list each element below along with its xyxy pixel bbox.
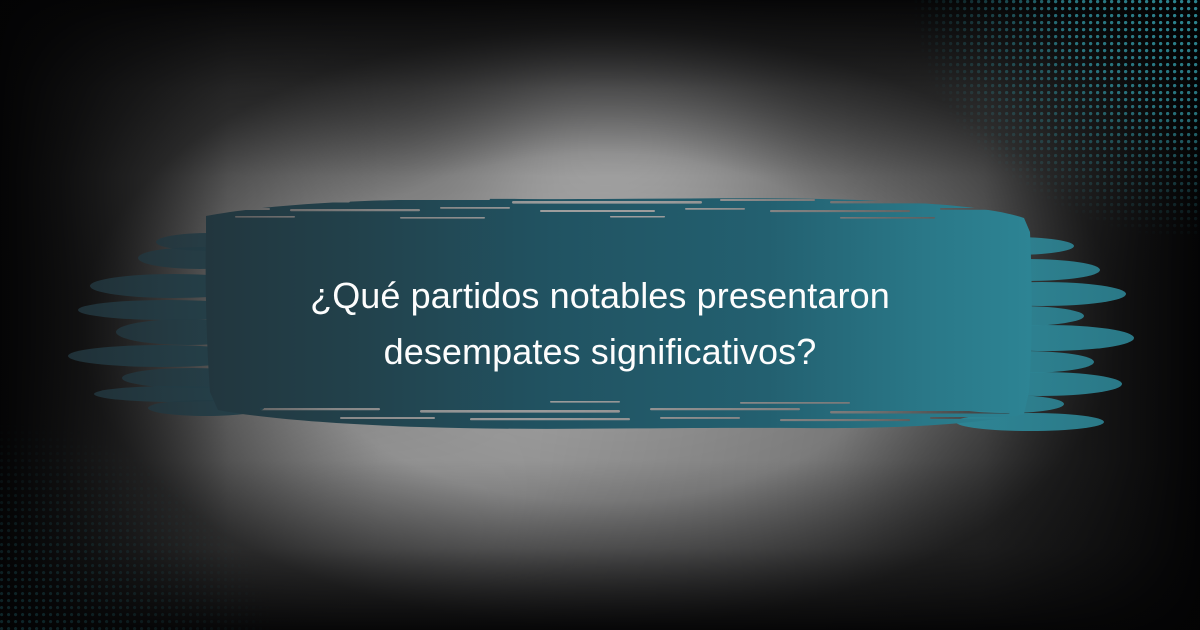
halftone-dots-bottom-left <box>0 410 290 630</box>
page-title: ¿Qué partidos notables presentaron desem… <box>200 268 1000 380</box>
social-card: ¿Qué partidos notables presentaron desem… <box>0 0 1200 630</box>
headline-line-2: desempates significativos? <box>200 324 1000 380</box>
headline-line-1: ¿Qué partidos notables presentaron <box>200 268 1000 324</box>
